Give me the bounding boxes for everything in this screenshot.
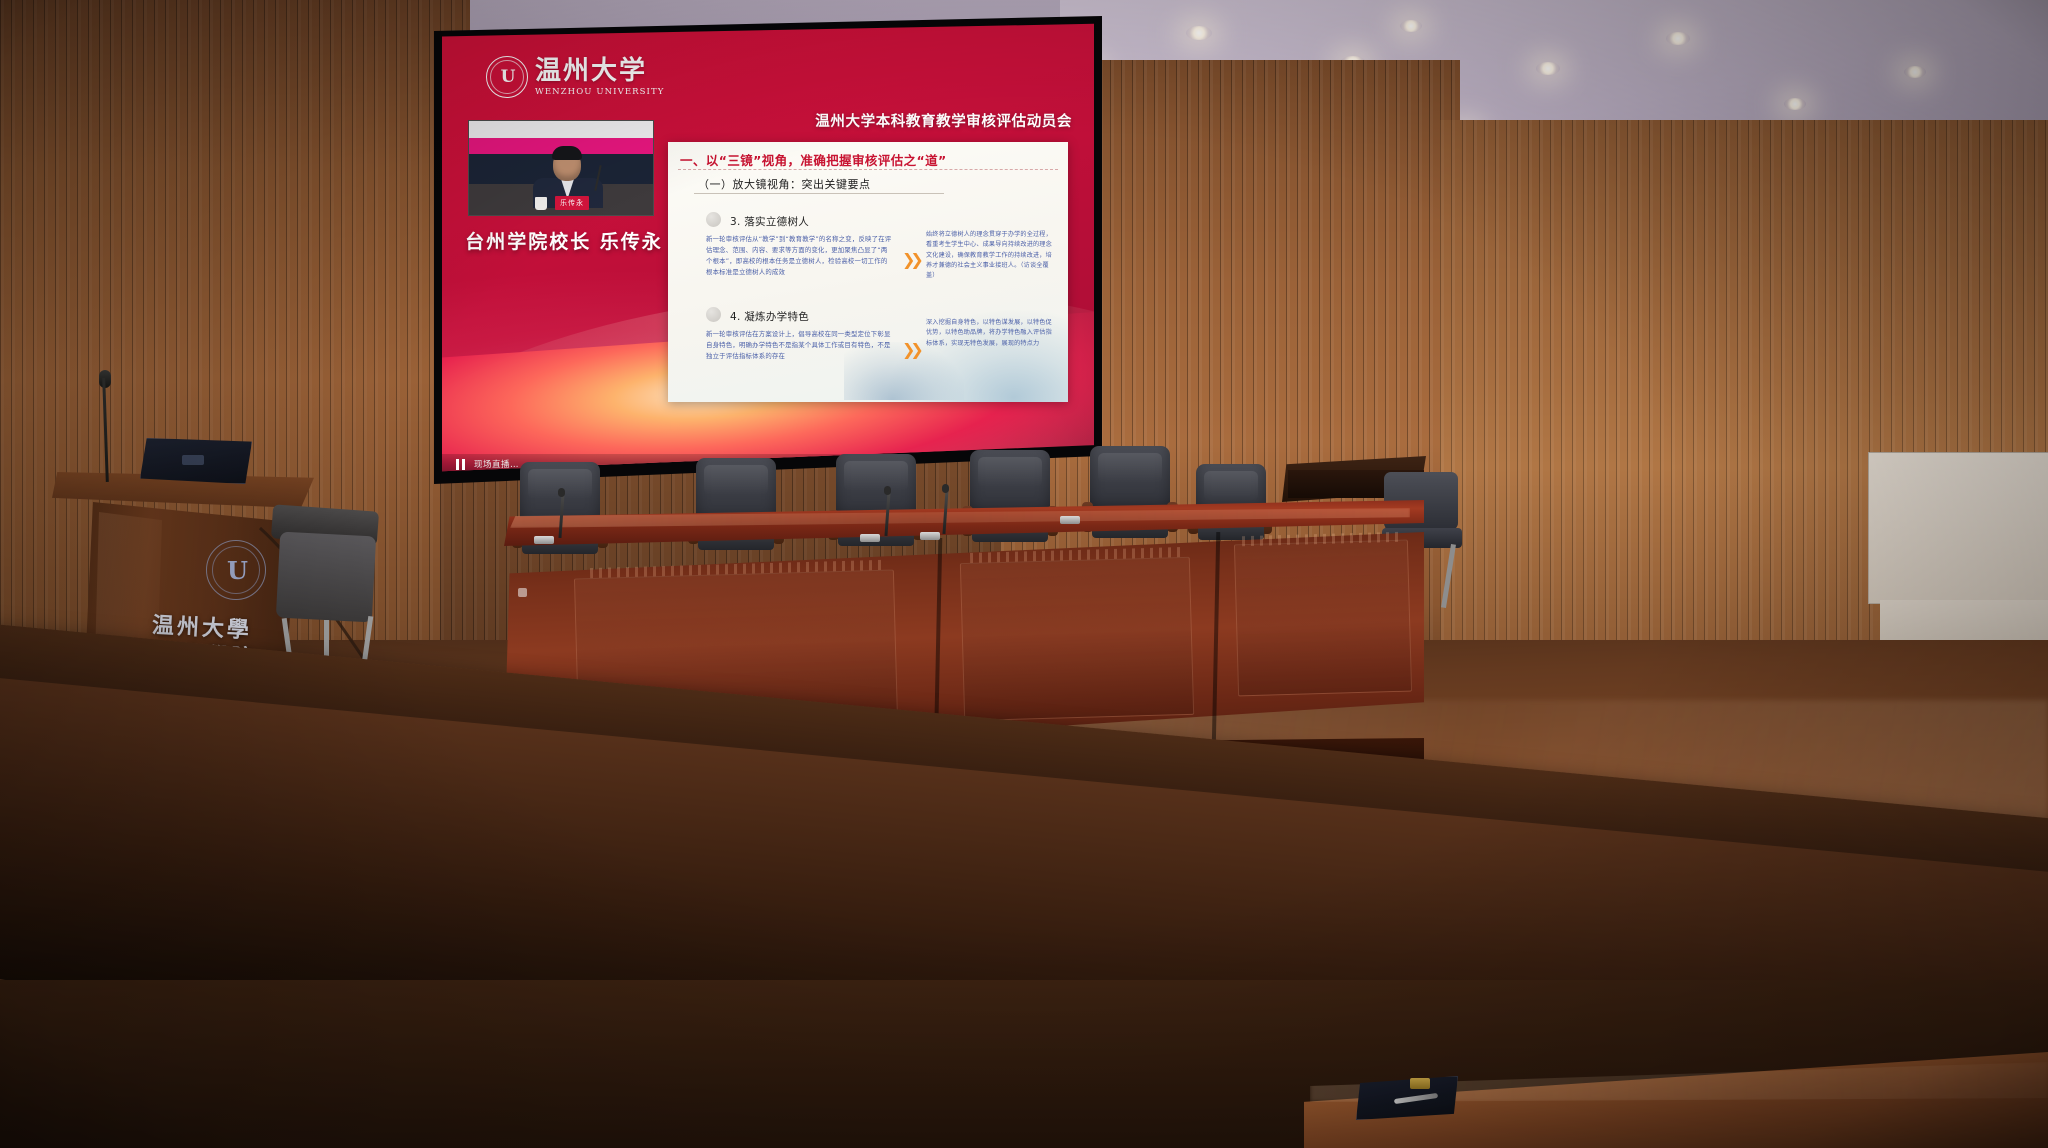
desk-mic-base-4 <box>1060 516 1080 524</box>
desk-mic-head-1 <box>558 488 565 497</box>
deck-title: 温州大学本科教育教学审核评估动员会 <box>815 110 1072 131</box>
section-aside-1: 始终将立德树人的理念贯穿于办学的全过程，看重考生学生中心、成果导向持续改进的理念… <box>926 230 1054 282</box>
desk-mic-base-1 <box>534 536 554 544</box>
pip-speaker-hair <box>552 146 582 160</box>
section-title-2: 4. 凝炼办学特色 <box>730 309 809 324</box>
desk-mic-base-3 <box>920 532 940 540</box>
speaker-label: 台州学院校长 乐传永 <box>464 227 664 254</box>
university-logo: U 温州大学 WENZHOU UNIVERSITY <box>486 56 665 98</box>
chair-leg <box>1441 544 1456 608</box>
lecture-hall-photo: U 温州大学 WENZHOU UNIVERSITY 温州大学本科教育教学审核评估… <box>0 0 2048 1148</box>
wenzhou-university-crest-icon: U <box>486 56 528 98</box>
university-name-en: WENZHOU UNIVERSITY <box>535 87 665 97</box>
laptop-screen <box>182 455 204 465</box>
table-panel-inset-2 <box>960 557 1194 721</box>
double-chevron-right-icon-2: ❯❯ <box>902 340 919 359</box>
desk-mic-head-3 <box>942 484 949 493</box>
slide-subheading-rule <box>694 193 944 194</box>
badge-marker <box>1410 1078 1430 1089</box>
circle-bullet-icon-2 <box>706 307 721 322</box>
desk-mic-base-2 <box>860 534 880 542</box>
downlight-6 <box>1784 98 1806 110</box>
crest-letter: U <box>501 67 514 87</box>
university-name-cn: 温州大学 <box>535 58 665 84</box>
downlight-1 <box>1186 26 1212 40</box>
podium-crest-letter: U <box>227 556 245 585</box>
downlight-4 <box>1536 62 1560 75</box>
table-panel-inset-3 <box>1234 540 1412 697</box>
double-chevron-right-icon-1: ❯❯ <box>902 250 919 269</box>
pip-name-tag: 乐传永 <box>555 196 589 210</box>
downlight-3 <box>1400 20 1422 32</box>
downlight-7 <box>1904 66 1926 78</box>
led-screen[interactable]: U 温州大学 WENZHOU UNIVERSITY 温州大学本科教育教学审核评估… <box>442 22 1094 474</box>
pip-wall-upper <box>469 121 653 138</box>
section-aside-2: 深入挖掘自身特色，以特色谋发展，以特色促优势，以特色助品牌，将办学特色融入评估指… <box>926 318 1054 349</box>
slide-body: 一、以“三镜”视角，准确把握审核评估之“道” （一）放大镜视角：突出关键要点 3… <box>668 142 1068 402</box>
table-control-button[interactable] <box>518 588 527 597</box>
pip-video[interactable]: 乐传永 <box>468 120 654 216</box>
slide-subheading: （一）放大镜视角：突出关键要点 <box>698 176 871 192</box>
pip-water-cup <box>535 197 547 210</box>
section-body-2: 新一轮审核评估在方案设计上，倡导高校在同一类型定位下彰显自身特色，明确办学特色不… <box>706 329 892 362</box>
desk-mic-head-2 <box>884 486 891 495</box>
downlight-5 <box>1666 32 1690 45</box>
pause-icon[interactable] <box>456 459 465 470</box>
chair-back <box>276 532 376 623</box>
wall-panel-door <box>1868 452 2048 604</box>
section-body-1: 新一轮审核评估从“教学”到“教育教学”的名称之变，反映了在评估理念、范围、内容、… <box>706 234 892 278</box>
circle-bullet-icon <box>706 212 721 227</box>
slide-heading: 一、以“三镜”视角，准确把握审核评估之“道” <box>680 150 1058 169</box>
slide-heading-rule <box>678 169 1058 170</box>
section-title-1: 3. 落实立德树人 <box>730 214 809 229</box>
